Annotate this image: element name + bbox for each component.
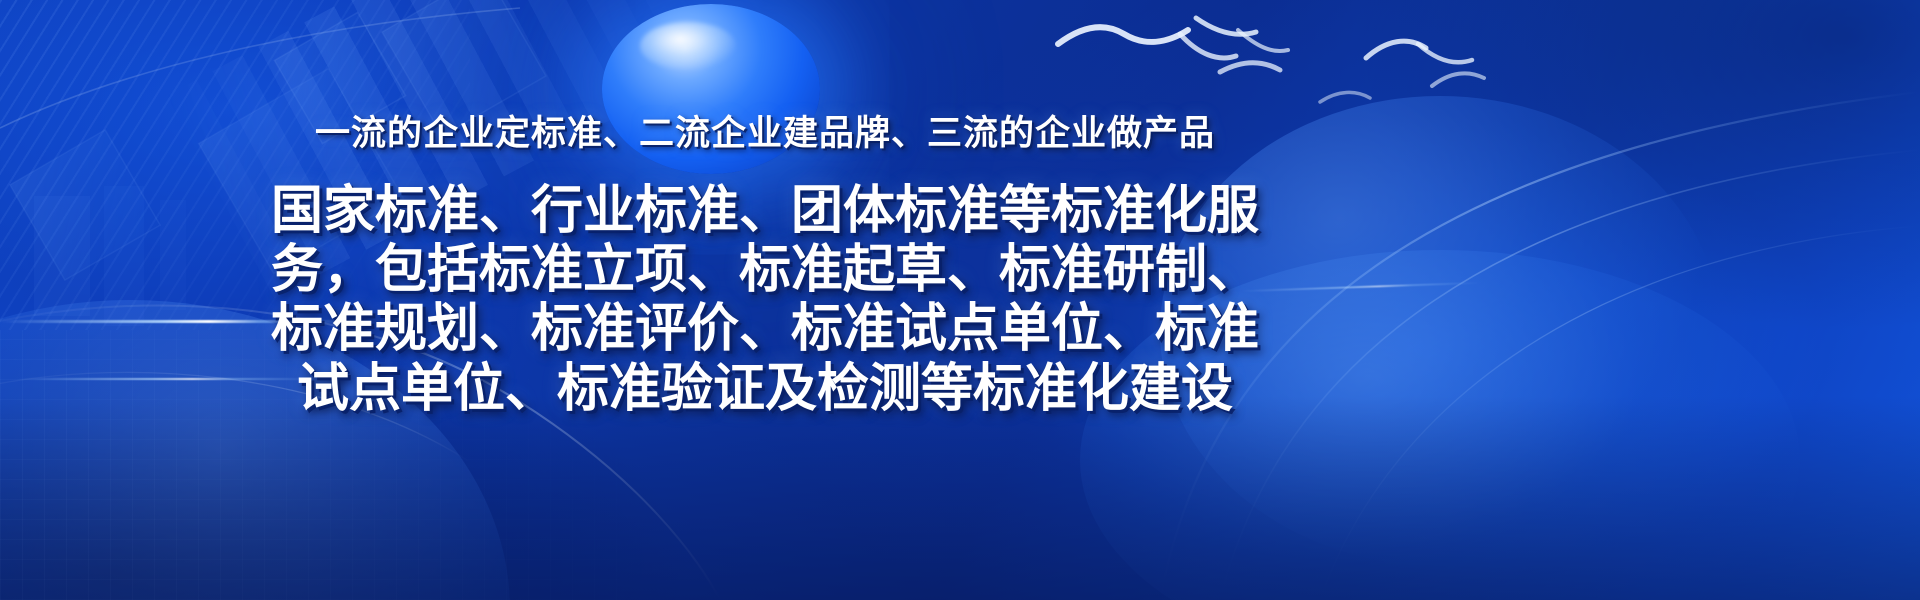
banner-body-line-2: 务，包括标准立项、标准起草、标准研制、	[235, 241, 1295, 300]
banner-text-block: 一流的企业定标准、二流企业建品牌、三流的企业做产品 国家标准、行业标准、团体标准…	[0, 0, 1530, 600]
banner-body-line-4: 试点单位、标准验证及检测等标准化建设	[235, 360, 1295, 419]
banner-body-line-3: 标准规划、标准评价、标准试点单位、标准	[235, 300, 1295, 359]
banner-body: 国家标准、行业标准、团体标准等标准化服 务，包括标准立项、标准起草、标准研制、 …	[235, 182, 1295, 419]
banner-headline: 一流的企业定标准、二流企业建品牌、三流的企业做产品	[315, 112, 1215, 156]
promo-banner: 一流的企业定标准、二流企业建品牌、三流的企业做产品 国家标准、行业标准、团体标准…	[0, 0, 1920, 600]
banner-body-line-1: 国家标准、行业标准、团体标准等标准化服	[235, 182, 1295, 241]
